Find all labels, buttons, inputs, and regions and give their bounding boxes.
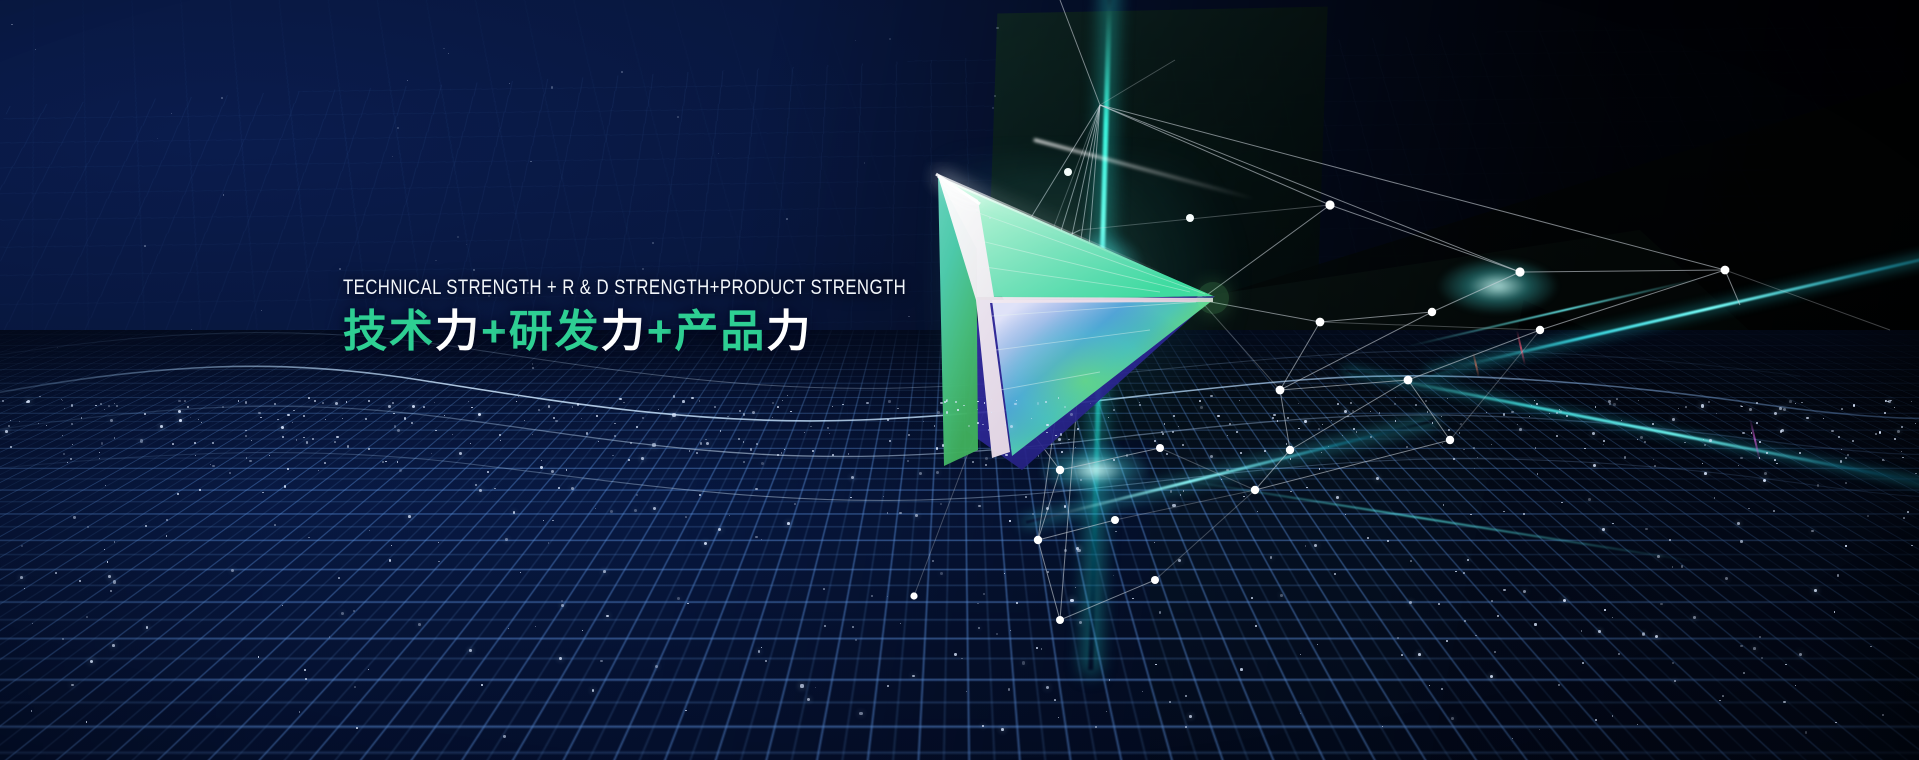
headline-segment-5: +	[647, 307, 675, 356]
hero-banner: TECHNICAL STRENGTH + R & D STRENGTH+PROD…	[0, 0, 1919, 760]
hero-headline: 技术力+研发力+产品力	[343, 306, 1043, 358]
headline-segment-0: 技术	[343, 307, 435, 356]
headline-segment-6: 产品	[674, 307, 766, 356]
headline-segment-7: 力	[766, 307, 812, 356]
headline-segment-1: 力	[435, 307, 481, 356]
headline-segment-3: 研发	[509, 307, 601, 356]
hero-text-block: TECHNICAL STRENGTH + R & D STRENGTH+PROD…	[343, 276, 1043, 358]
arrow-nose-glow	[1197, 282, 1229, 314]
hero-eyebrow: TECHNICAL STRENGTH + R & D STRENGTH+PROD…	[343, 276, 903, 299]
headline-segment-2: +	[481, 307, 509, 356]
arrow-play-mark	[0, 0, 1919, 760]
headline-segment-4: 力	[601, 307, 647, 356]
